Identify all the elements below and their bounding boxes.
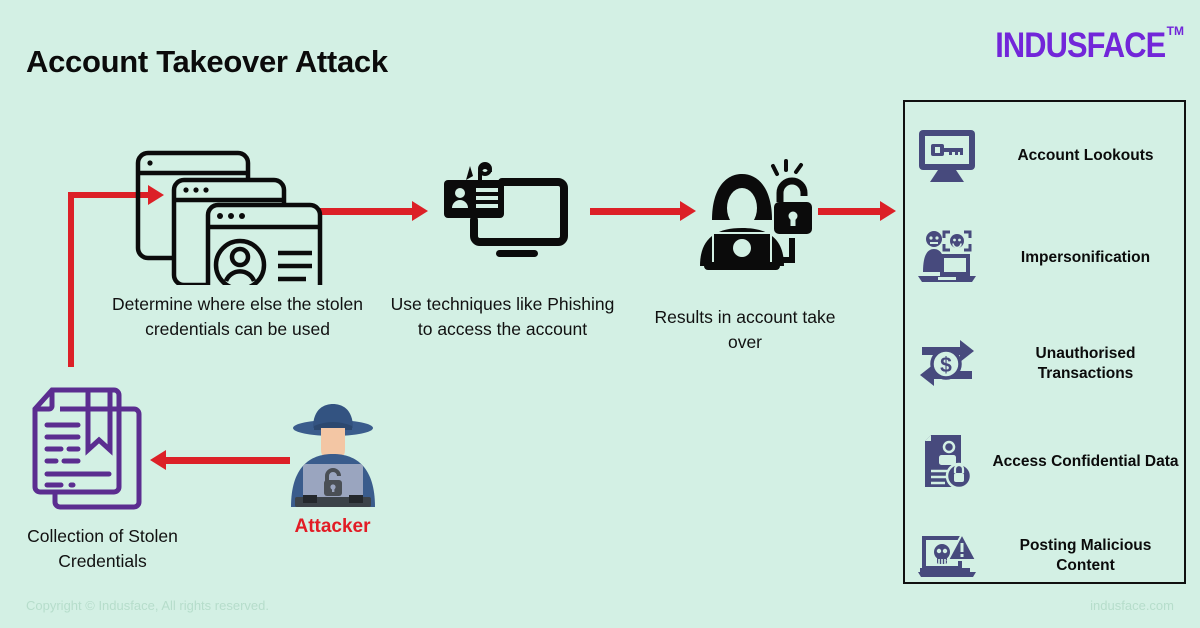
indusface-logo: INDUSFACE TM [972, 26, 1184, 66]
caption-determine-reuse: Determine where else the stolen credenti… [110, 292, 365, 342]
outcome-label: Unauthorised Transactions [989, 344, 1188, 384]
confidential-file-icon [905, 433, 989, 491]
money-transfer-icon: $ [905, 337, 989, 391]
outcomes-panel: Account Lookouts [903, 100, 1186, 584]
svg-text:$: $ [940, 354, 952, 377]
infographic-canvas: Account Takeover Attack INDUSFACE TM [0, 0, 1200, 628]
attacker-label: Attacker [270, 516, 395, 538]
outcome-row-impersonification[interactable]: Impersonification [905, 222, 1188, 294]
outcome-row-malicious-content[interactable]: Posting Malicious Content [905, 514, 1188, 598]
attacker-laptop-icon [283, 402, 383, 507]
footer-copyright: Copyright © Indusface, All rights reserv… [26, 598, 269, 613]
caption-phishing: Use techniques like Phishing to access t… [390, 292, 615, 342]
page-title: Account Takeover Attack [26, 44, 388, 80]
impersonification-icon [905, 230, 989, 286]
malicious-laptop-icon [905, 528, 989, 584]
outcome-label: Impersonification [989, 248, 1188, 268]
outcome-row-confidential-data[interactable]: Access Confidential Data [905, 420, 1188, 504]
caption-stolen-credentials: Collection of Stolen Credentials [0, 524, 205, 574]
outcome-label: Posting Malicious Content [989, 536, 1188, 576]
logo-trademark: TM [1167, 24, 1184, 38]
browser-windows-icon [130, 145, 325, 285]
outcome-label: Account Lookouts [989, 146, 1188, 166]
outcome-row-account-lookouts[interactable]: Account Lookouts [905, 120, 1188, 192]
monitor-key-icon [905, 128, 989, 184]
logo-wordmark: INDUSFACE [996, 26, 1166, 66]
id-card-monitor-icon [436, 162, 576, 274]
outcome-label: Access Confidential Data [989, 452, 1188, 472]
caption-account-takeover: Results in account take over [640, 305, 850, 355]
outcome-row-unauthorised-transactions[interactable]: $ Unauthorised Transactions [905, 328, 1188, 400]
footer-website[interactable]: indusface.com [1090, 598, 1174, 613]
documents-icon [30, 387, 148, 512]
hacker-padlock-icon [694, 158, 820, 274]
